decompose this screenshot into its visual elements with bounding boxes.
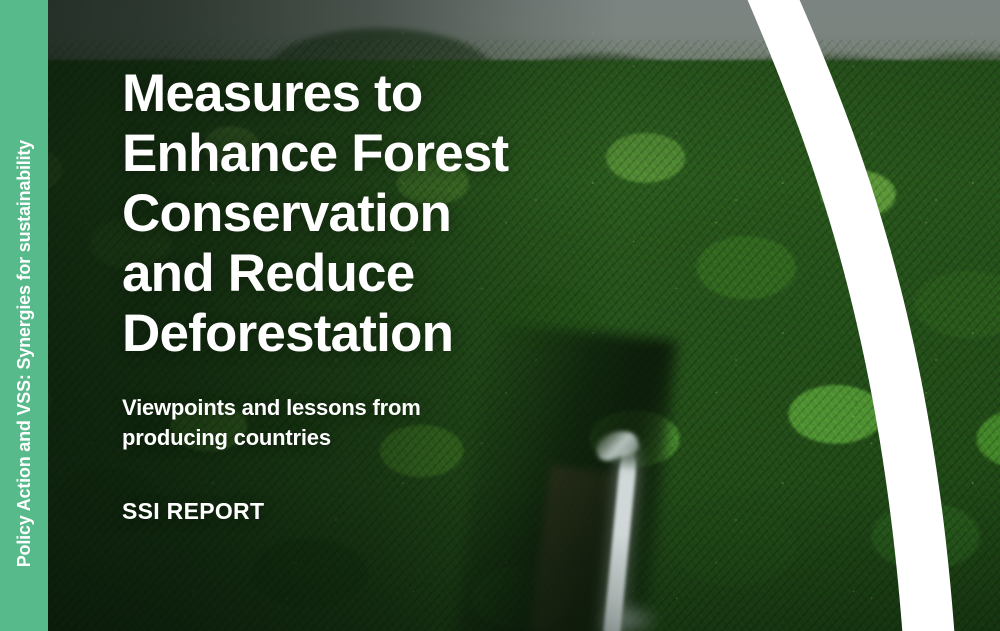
report-type-label: SSI REPORT xyxy=(122,498,264,525)
title-line-4: and Reduce xyxy=(122,244,414,303)
report-cover: Policy Action and VSS: Synergies for sus… xyxy=(0,0,1000,631)
subtitle-line-1: Viewpoints and lessons from xyxy=(122,395,421,420)
sidebar-series-label: Policy Action and VSS: Synergies for sus… xyxy=(0,140,48,567)
title-line-5: Deforestation xyxy=(122,304,453,363)
page-title: Measures to Enhance Forest Conservation … xyxy=(122,64,592,364)
cover-text-block: Measures to Enhance Forest Conservation … xyxy=(120,0,680,631)
page-subtitle: Viewpoints and lessons from producing co… xyxy=(122,393,542,453)
title-line-3: Conservation xyxy=(122,184,451,243)
subtitle-line-2: producing countries xyxy=(122,425,331,450)
sidebar-series-band: Policy Action and VSS: Synergies for sus… xyxy=(0,0,48,631)
title-line-1: Measures to xyxy=(122,64,422,123)
title-line-2: Enhance Forest xyxy=(122,124,508,183)
